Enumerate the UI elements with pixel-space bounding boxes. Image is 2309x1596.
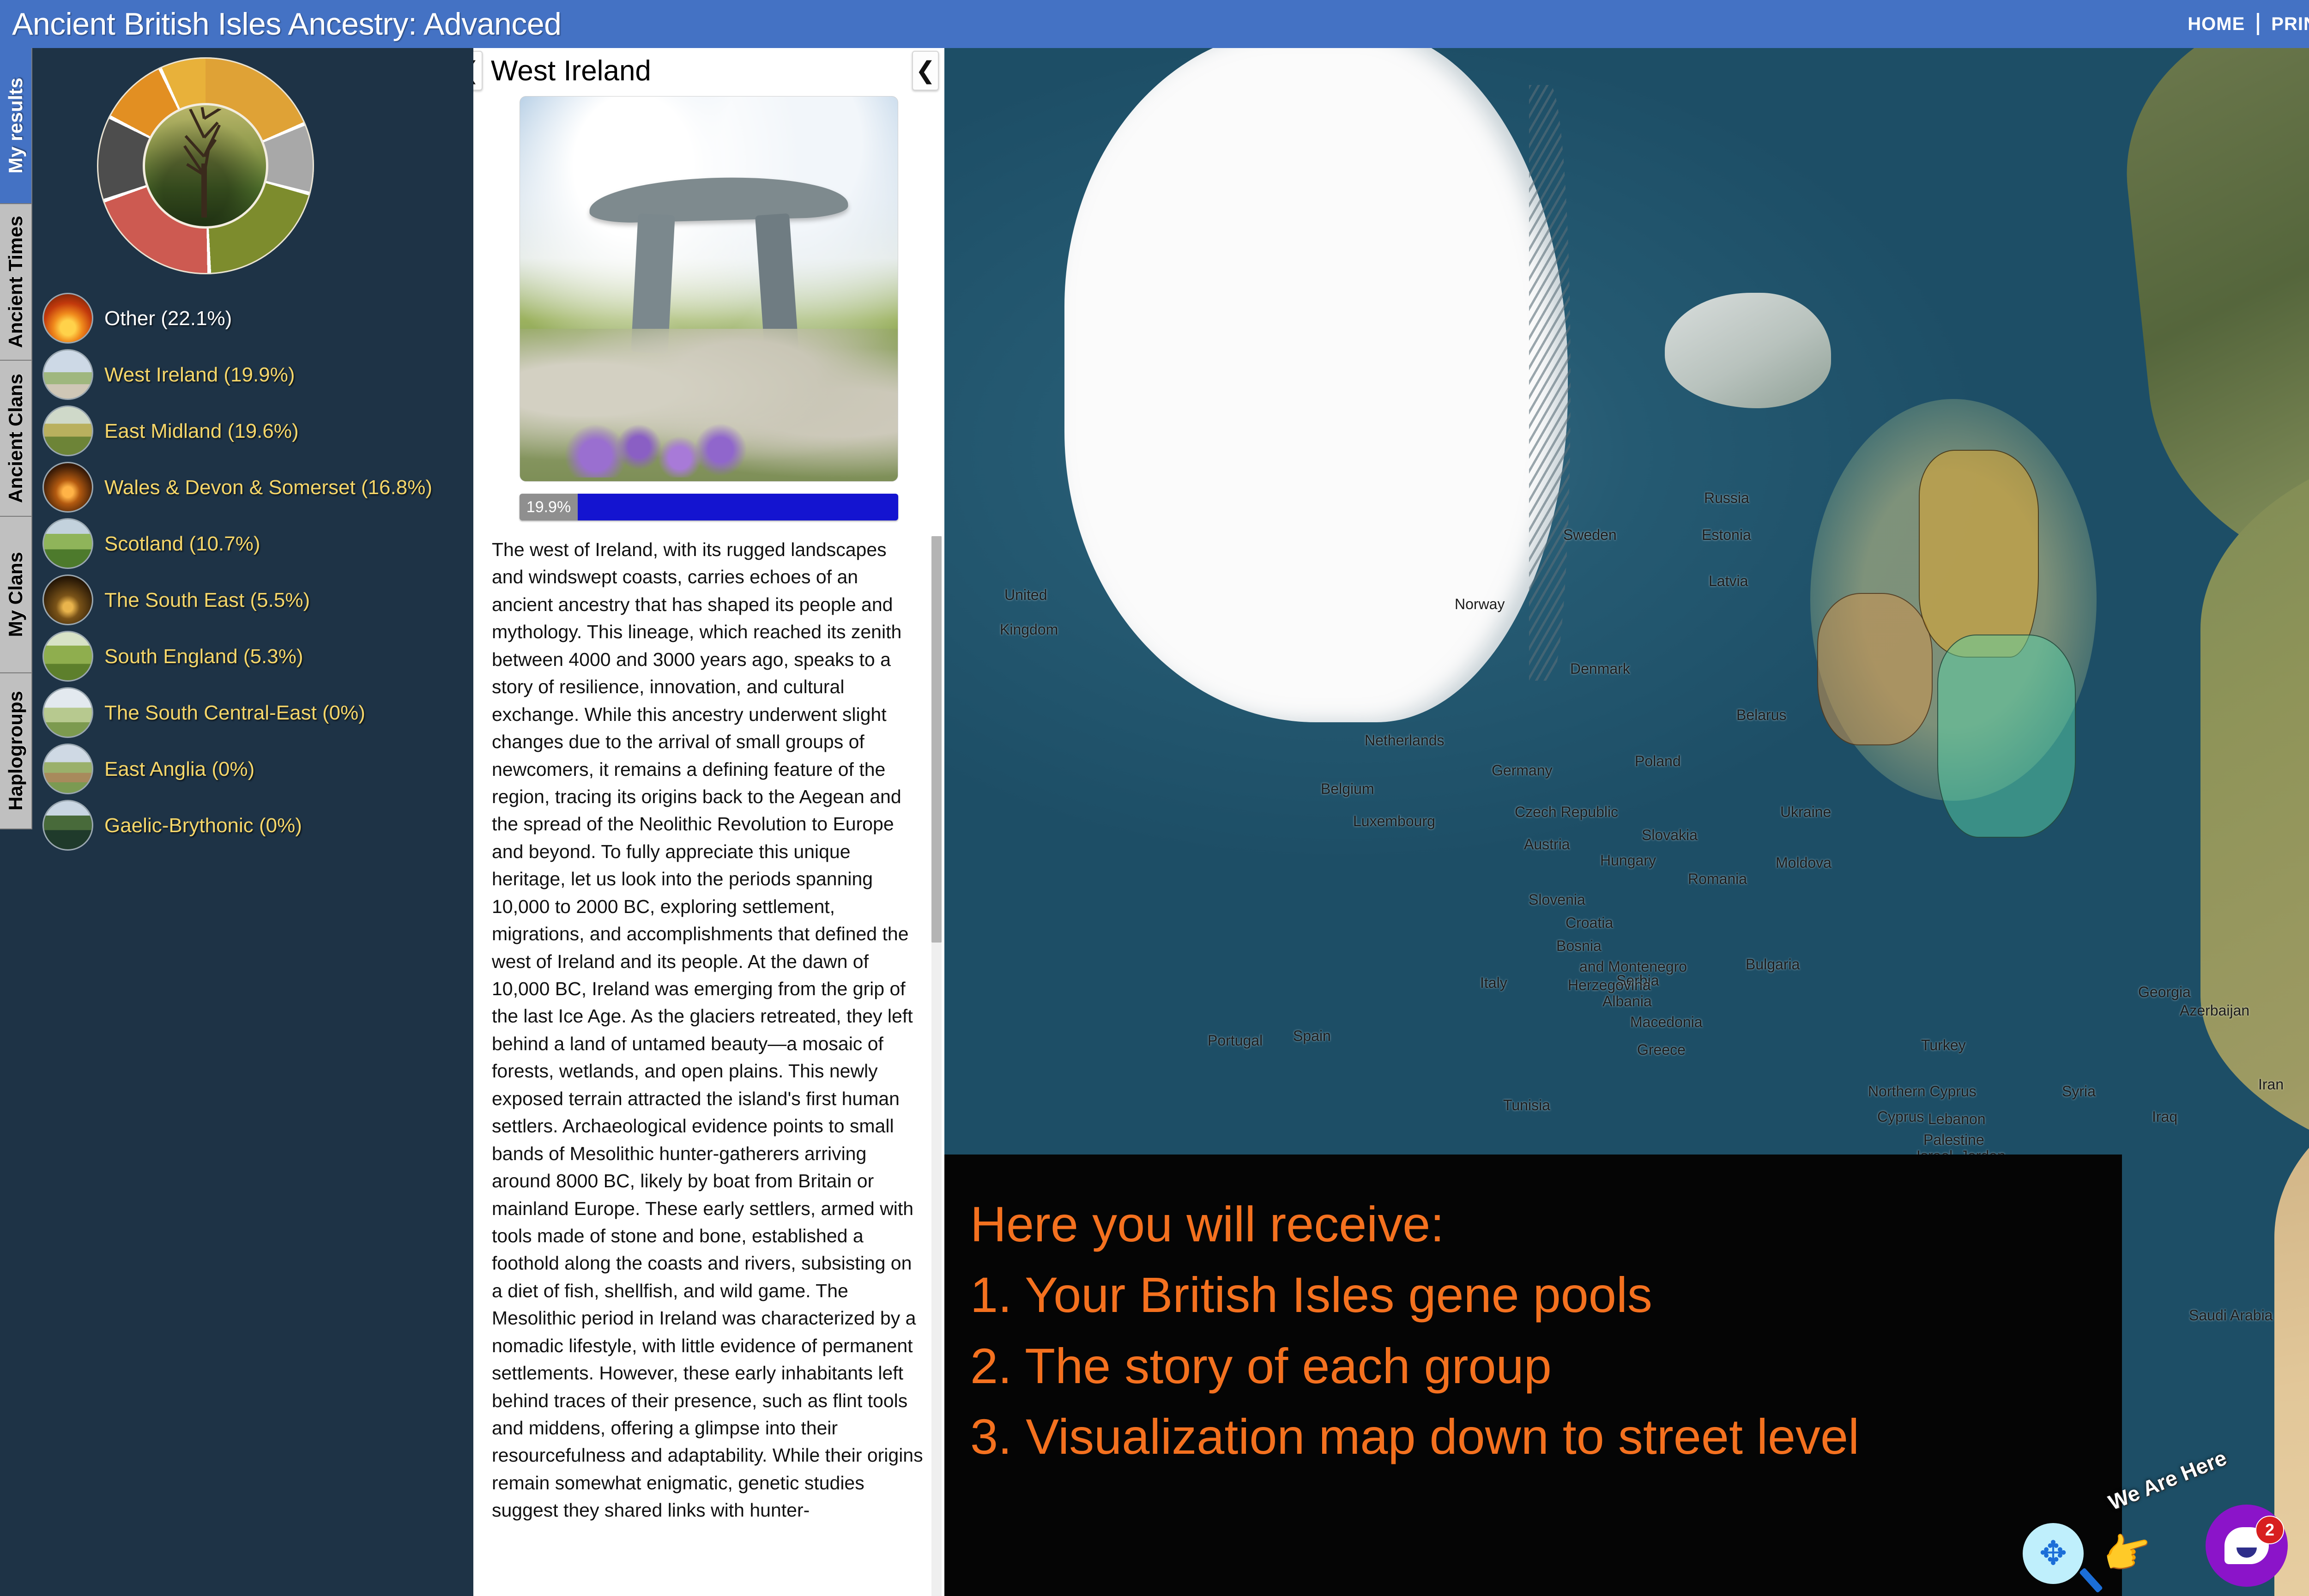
tab-haplogroups[interactable]: Haplogroups — [0, 673, 31, 829]
nav-print[interactable]: PRINT — [2259, 14, 2309, 35]
collapse-left-chevron-icon[interactable]: ❮ — [473, 51, 483, 91]
we-are-here-badge: We Are Here 👉 2 — [2097, 1454, 2301, 1592]
england-region-overlay[interactable] — [1937, 635, 2076, 838]
map-country-label: Bosnia — [1556, 937, 1602, 955]
four-arrows-glyph: ✥ — [2039, 1537, 2067, 1570]
tab-ancient-times-label: Ancient Times — [5, 216, 27, 348]
map-country-label: and Montenegro — [1579, 958, 1687, 975]
ireland-region-overlay[interactable] — [1817, 593, 1933, 745]
menhir-thumb-icon — [42, 687, 93, 738]
list-item[interactable]: East Anglia (0%) — [42, 741, 473, 797]
tab-haplogroups-label: Haplogroups — [5, 691, 27, 810]
map-country-label: United — [1004, 586, 1047, 604]
detail-scrollbar[interactable] — [931, 536, 942, 1596]
cliff-thumb-icon — [42, 800, 93, 851]
map-country-label: Moldova — [1776, 854, 1831, 871]
map-country-label: Germany — [1492, 762, 1553, 779]
tab-ancient-times[interactable]: Ancient Times — [0, 204, 31, 360]
donut-ring — [97, 57, 314, 274]
dolmen-thumb-icon — [42, 349, 93, 400]
promo-heading: Here you will receive: — [970, 1189, 2122, 1259]
list-item-label: The South East (5.5%) — [104, 587, 310, 613]
promo-item-1: 1. Your British Isles gene pools — [970, 1259, 2122, 1330]
list-item[interactable]: Other (22.1%) — [42, 290, 473, 346]
map-country-label: Herzegovina — [1568, 977, 1651, 994]
list-item-label: South England (5.3%) — [104, 644, 303, 669]
expand-map-icon[interactable]: ✥ — [2023, 1523, 2084, 1584]
list-item[interactable]: West Ireland (19.9%) — [42, 346, 473, 403]
tab-ancient-clans[interactable]: Ancient Clans — [0, 361, 31, 517]
stonehenge-thumb-icon — [42, 631, 93, 682]
list-item-label: Scotland (10.7%) — [104, 531, 260, 556]
map-country-label: Bulgaria — [1746, 956, 1800, 973]
map-country-label: Palestine — [1923, 1131, 1984, 1149]
iceland-landmass — [1665, 293, 1831, 408]
map-country-label: Ukraine — [1780, 804, 1831, 821]
list-item-label: Gaelic-Brythonic (0%) — [104, 813, 302, 838]
list-item-label: The South Central-East (0%) — [104, 700, 365, 725]
map-country-label: Netherlands — [1365, 732, 1445, 749]
map-country-label: Russia — [1704, 490, 1749, 507]
green-hills-thumb-icon — [42, 518, 93, 569]
map-country-label: Italy — [1480, 974, 1507, 991]
map-country-label: Romania — [1688, 871, 1747, 888]
map-country-label: Estonia — [1702, 526, 1751, 544]
list-item[interactable]: Scotland (10.7%) — [42, 515, 473, 572]
tab-ancient-clans-label: Ancient Clans — [5, 374, 27, 503]
nav-home-label: HOME — [2188, 14, 2245, 35]
map-country-label: Serbia — [1616, 972, 1659, 989]
gene-pool-list: Other (22.1%) West Ireland (19.9%) East … — [32, 290, 473, 853]
map-country-label: Kingdom — [1000, 621, 1058, 638]
ancestry-donut-chart[interactable] — [97, 57, 314, 274]
detail-header: ❮ West Ireland ❮ — [473, 48, 944, 93]
percentage-bar: 19.9% — [520, 494, 898, 520]
night-ruins-thumb-icon — [42, 574, 93, 625]
percentage-label: 19.9% — [520, 494, 578, 520]
map-country-label: Cyprus — [1877, 1108, 1924, 1125]
top-navigation: HOME PRINT WRITE A REVIEW MY ACCOUNT — [2176, 13, 2309, 35]
greenland-landmass — [1064, 48, 1568, 722]
map-country-label: Portugal — [1208, 1032, 1263, 1049]
map-floating-widgets: ✥ We Are Here 👉 2 — [2023, 1454, 2301, 1592]
map-country-label: Northern Cyprus — [1868, 1083, 1977, 1100]
map-country-label: Syria — [2062, 1083, 2096, 1100]
sidebar-vertical-tabs: My results Ancient Times Ancient Clans M… — [0, 48, 32, 829]
tab-my-clans[interactable]: My Clans — [0, 517, 31, 673]
promo-item-3: 3. Visualization map down to street leve… — [970, 1401, 2122, 1472]
map-country-label: Lebanon — [1928, 1111, 1986, 1128]
river-thumb-icon — [42, 744, 93, 794]
list-item-label: East Midland (19.6%) — [104, 418, 299, 444]
promo-overlay: Here you will receive: 1. Your British I… — [944, 1155, 2122, 1596]
map-country-label: Sweden — [1563, 526, 1617, 544]
fire-thumb-icon — [42, 293, 93, 344]
map-country-label: Denmark — [1570, 660, 1630, 677]
percentage-fill — [578, 494, 898, 520]
detail-panel: ❮ West Ireland ❮ 19.9% The west of Irela… — [473, 48, 944, 1596]
map-country-label: Slovakia — [1642, 827, 1698, 844]
map-country-label: Macedonia — [1630, 1014, 1703, 1031]
map-country-label: Iraq — [2152, 1108, 2177, 1125]
chat-unread-badge: 2 — [2255, 1516, 2284, 1544]
nav-home[interactable]: HOME — [2176, 14, 2257, 35]
nav-print-label: PRINT — [2271, 14, 2309, 35]
tab-my-results-label: My results — [5, 78, 27, 174]
scrollbar-thumb[interactable] — [931, 536, 942, 943]
collapse-right-chevron-icon[interactable]: ❮ — [912, 51, 939, 91]
tab-my-clans-label: My Clans — [5, 552, 27, 637]
map-country-label: Latvia — [1709, 573, 1748, 590]
page-title: Ancient British Isles Ancestry: Advanced — [0, 6, 562, 42]
map-country-label: Luxembourg — [1353, 813, 1435, 830]
map-country-label: Croatia — [1566, 914, 1613, 931]
list-item-label: Other (22.1%) — [104, 306, 232, 331]
results-panel: Other (22.1%) West Ireland (19.9%) East … — [32, 48, 473, 1596]
list-item[interactable]: South England (5.3%) — [42, 628, 473, 684]
list-item-label: East Anglia (0%) — [104, 756, 254, 782]
tab-my-results[interactable]: My results — [0, 48, 31, 204]
list-item[interactable]: The South Central-East (0%) — [42, 684, 473, 741]
map-country-label: Tunisia — [1503, 1097, 1550, 1114]
map-country-label: Spain — [1293, 1028, 1331, 1045]
list-item[interactable]: Gaelic-Brythonic (0%) — [42, 797, 473, 853]
cave-thumb-icon — [42, 462, 93, 513]
promo-item-2: 2. The story of each group — [970, 1330, 2122, 1401]
map-country-label: Belgium — [1321, 780, 1374, 798]
chat-button[interactable]: 2 — [2206, 1505, 2288, 1587]
list-item[interactable]: East Midland (19.6%) — [42, 403, 473, 459]
detail-title: West Ireland — [473, 54, 651, 87]
list-item-label: West Ireland (19.9%) — [104, 362, 295, 387]
map-country-label: Albania — [1602, 993, 1652, 1010]
map-country-label: Belarus — [1736, 707, 1787, 724]
scotland-region-overlay[interactable] — [1919, 450, 2039, 658]
list-item[interactable]: Wales & Devon & Somerset (16.8%) — [42, 459, 473, 515]
map-country-label: Georgia — [2138, 984, 2191, 1001]
map-country-label: Poland — [1635, 753, 1681, 770]
map-country-label: Czech Republic — [1515, 804, 1618, 821]
map-country-label: Austria — [1524, 836, 1570, 853]
detail-description-text: The west of Ireland, with its rugged lan… — [492, 536, 923, 1524]
map-country-label: Turkey — [1921, 1037, 1966, 1054]
map-country-label: Hungary — [1600, 852, 1656, 869]
europe-landmass — [2200, 431, 2309, 1193]
top-app-bar: Ancient British Isles Ancestry: Advanced… — [0, 0, 2309, 48]
nav-separator — [2257, 13, 2259, 35]
map-country-label: Slovenia — [1529, 891, 1585, 908]
list-item[interactable]: The South East (5.5%) — [42, 572, 473, 628]
map-country-label: Saudi Arabia — [2189, 1307, 2273, 1324]
detail-hero-image — [520, 96, 898, 482]
field-thumb-icon — [42, 405, 93, 456]
detail-body-scroll-area[interactable]: The west of Ireland, with its rugged lan… — [473, 536, 944, 1596]
map-country-label: Greece — [1637, 1041, 1686, 1058]
list-item-label: Wales & Devon & Somerset (16.8%) — [104, 475, 432, 500]
